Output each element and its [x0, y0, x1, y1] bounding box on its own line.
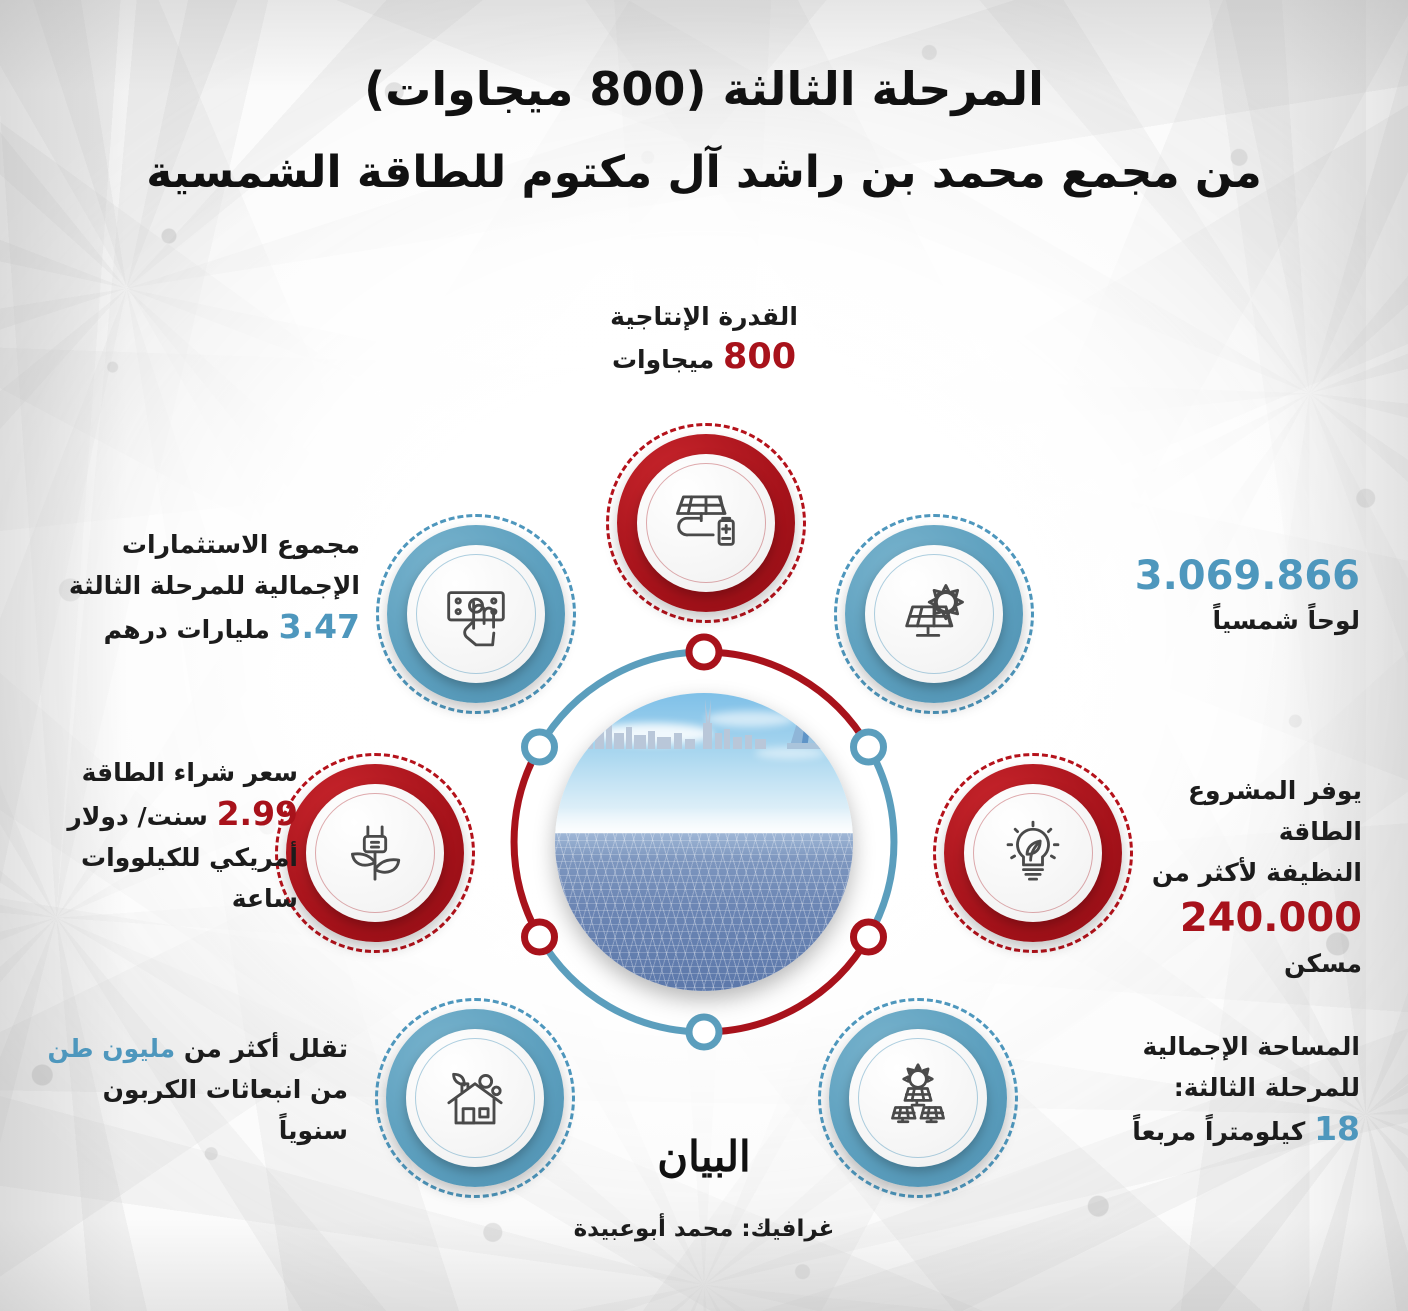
page-title: المرحلة الثالثة (800 ميجاوات) من مجمع مح…	[0, 58, 1408, 204]
photo-dubai-skyline	[555, 693, 853, 749]
callout-investment-value-row: 3.47 مليارات درهم	[40, 606, 360, 650]
callout-investment-line2: الإجمالية للمرحلة الثالثة	[40, 565, 360, 606]
node-price[interactable]	[286, 764, 464, 942]
ring-node-upper-left	[525, 732, 555, 762]
photo-solar-field	[555, 833, 853, 991]
title-line-2: من مجمع محمد بن راشد آل مكتوم للطاقة الش…	[0, 142, 1408, 204]
node-inner-disc	[637, 454, 775, 592]
node-inner-disc	[865, 545, 1003, 683]
callout-capacity-value: 800	[723, 337, 796, 377]
callout-price-line3: أمريكي للكيلووات	[8, 837, 298, 878]
callout-panels-value: 3.069.866	[1060, 552, 1360, 600]
callout-area-line2: للمرحلة الثالثة:	[1055, 1067, 1360, 1108]
solar-farm-photo	[555, 693, 853, 991]
node-inner-disc	[407, 545, 545, 683]
callout-homes-line1: يوفر المشروع الطاقة	[1110, 770, 1362, 852]
callout-investment-line1: مجموع الاستثمارات	[40, 524, 360, 565]
solar-panel-battery-icon	[668, 485, 744, 561]
callout-carbon-line1: تقلل أكثر من مليون طن	[18, 1028, 348, 1069]
callout-panels-unit: لوحاً شمسياً	[1060, 600, 1360, 641]
eco-plug-icon	[337, 815, 413, 891]
callout-price-line1: سعر شراء الطاقة	[8, 752, 298, 793]
ring-node-bottom	[689, 1017, 719, 1047]
callout-investment-unit: مليارات درهم	[104, 615, 270, 644]
node-inner-disc	[964, 784, 1102, 922]
ring-node-lower-right	[854, 922, 884, 952]
callout-price-value-row: 2.99 سنت/ دولار	[8, 793, 298, 837]
callout-carbon-highlight: مليون طن	[47, 1034, 175, 1063]
callout-investment: مجموع الاستثمارات الإجمالية للمرحلة الثا…	[40, 524, 360, 650]
callout-carbon-line2: من انبعاثات الكربون	[18, 1069, 348, 1110]
callout-price-unit: سنت/ دولار	[67, 802, 207, 831]
callout-homes: يوفر المشروع الطاقة النظيفة لأكثر من 240…	[1110, 770, 1362, 984]
eco-house-icon	[437, 1060, 513, 1136]
ring-node-lower-left	[525, 922, 555, 952]
solar-farm-icon	[880, 1060, 956, 1136]
eco-lightbulb-icon	[995, 815, 1071, 891]
ring-node-upper-right	[854, 732, 884, 762]
callout-capacity-value-row: 800 ميجاوات	[0, 337, 1408, 380]
callout-panels: 3.069.866 لوحاً شمسياً	[1060, 552, 1360, 641]
node-panels[interactable]	[845, 525, 1023, 703]
title-line-1: المرحلة الثالثة (800 ميجاوات)	[0, 58, 1408, 120]
callout-capacity: القدرة الإنتاجية 800 ميجاوات	[0, 296, 1408, 380]
callout-price: سعر شراء الطاقة 2.99 سنت/ دولار أمريكي ل…	[8, 752, 298, 919]
solar-panel-sun-icon	[896, 576, 972, 652]
callout-area-line1: المساحة الإجمالية	[1055, 1026, 1360, 1067]
node-homes[interactable]	[944, 764, 1122, 942]
money-hand-icon	[438, 576, 514, 652]
infographic-stage: المرحلة الثالثة (800 ميجاوات) من مجمع مح…	[0, 0, 1408, 1311]
callout-investment-value: 3.47	[279, 607, 360, 646]
callout-homes-value: 240.000	[1110, 893, 1362, 943]
callout-capacity-line1: القدرة الإنتاجية	[0, 296, 1408, 337]
node-inner-disc	[306, 784, 444, 922]
callout-carbon-prefix: تقلل أكثر من	[175, 1034, 348, 1063]
callout-homes-unit: مسكن	[1110, 943, 1362, 984]
callout-price-line4: ساعة	[8, 878, 298, 919]
graphic-credit: غرافيك: محمد أبوعبيدة	[0, 1216, 1408, 1242]
photo-panel-grid	[555, 833, 853, 991]
node-investment[interactable]	[387, 525, 565, 703]
callout-homes-line2: النظيفة لأكثر من	[1110, 852, 1362, 893]
callout-price-value: 2.99	[217, 794, 298, 833]
ring-node-top	[689, 637, 719, 667]
node-capacity[interactable]	[617, 434, 795, 612]
photo-horizon-haze	[555, 807, 853, 833]
albayan-logo: البيان	[0, 1132, 1408, 1181]
callout-capacity-unit: ميجاوات	[612, 345, 714, 374]
